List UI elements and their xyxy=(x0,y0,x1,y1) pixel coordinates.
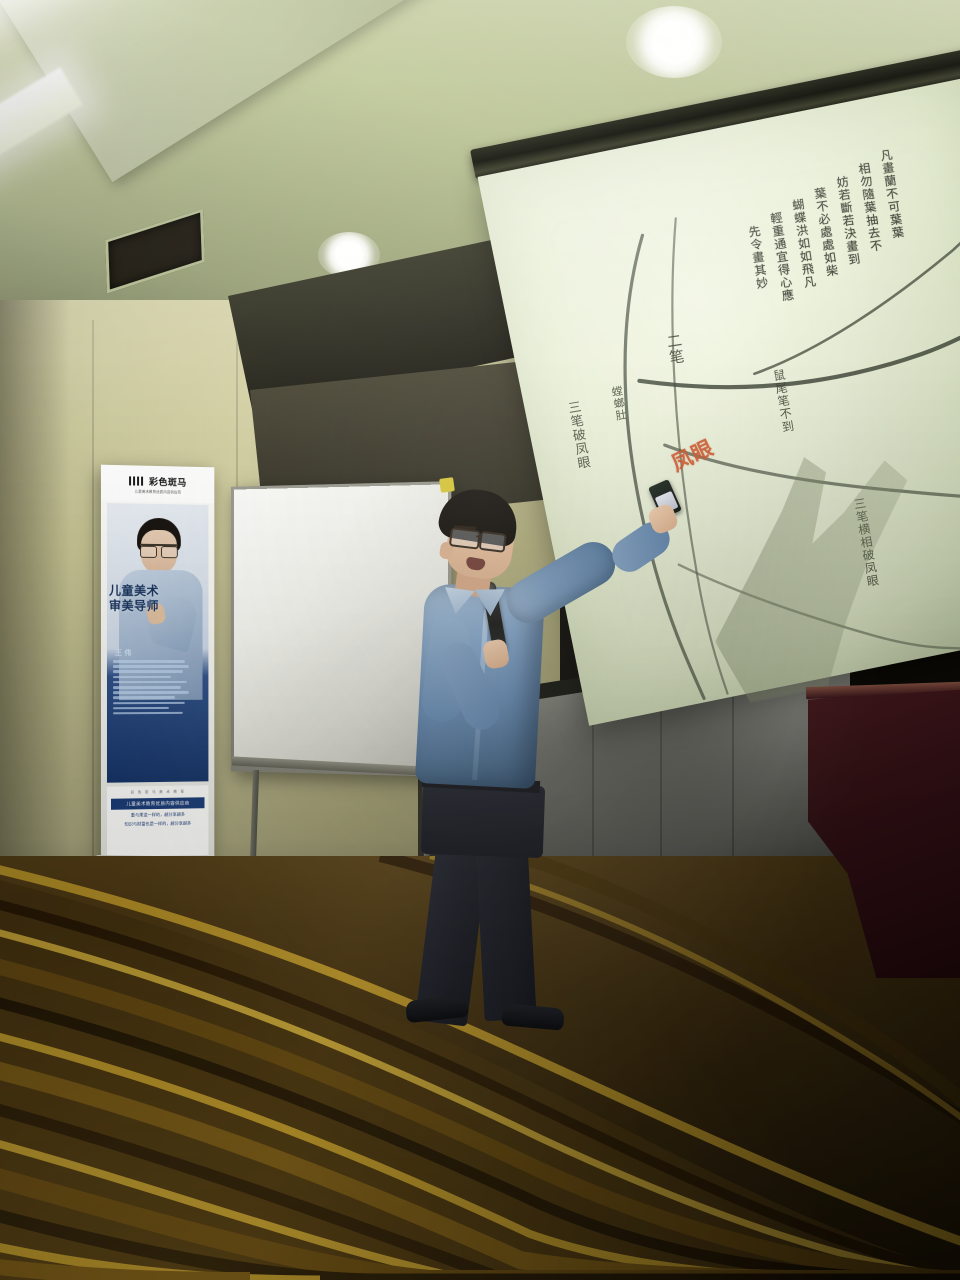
slide-label-top-center: 二笔 xyxy=(664,332,686,366)
banner-footer-tiny: 彩 色 斑 马 美 术 教 育 xyxy=(131,790,185,796)
banner-header: 彩色斑马 儿童美术教育优质内容供应商 xyxy=(101,465,214,503)
bio-line xyxy=(113,696,175,699)
banner-footer: 彩 色 斑 马 美 术 教 育 儿童美术教育优质内容供应商 重与果造一样的，越分… xyxy=(107,785,208,857)
presenter-arm-raised xyxy=(499,534,623,631)
poem-column-6: 輕重通宜得心應 xyxy=(767,211,795,303)
presenter xyxy=(392,490,652,1035)
presenter-hips xyxy=(421,782,545,858)
portrait-glasses-icon xyxy=(140,544,178,556)
bio-line xyxy=(113,665,189,668)
bio-line xyxy=(113,686,181,689)
banner-brand: 彩色斑马 xyxy=(149,474,187,488)
presenter-leg-right xyxy=(475,839,536,1021)
bio-line xyxy=(113,712,183,715)
calligraphy-poem: 凡畫蘭不可葉葉 相勿隨葉抽去不 妨若斷若決畫到 葉不必處處如柴 蝴蝶洪如如飛凡 … xyxy=(737,148,912,307)
downlight-1 xyxy=(626,6,722,78)
bio-line xyxy=(113,676,171,679)
roll-up-banner[interactable]: 彩色斑马 儿童美术教育优质内容供应商 儿童美术 审美导师 王 伟 xyxy=(101,465,214,860)
banner-footer-bar: 儿童美术教育优质内容供应商 xyxy=(111,797,204,810)
bio-line xyxy=(113,660,185,663)
banner-footer-line2: 知识与财富也是一样的，越分享越多 xyxy=(125,821,192,829)
banner-headline: 儿童美术 审美导师 xyxy=(109,584,159,614)
wall-left-shadow xyxy=(0,300,70,940)
bio-line xyxy=(113,701,185,704)
banner-portrait-photo xyxy=(107,503,208,783)
glasses-lens-right xyxy=(479,531,507,553)
bio-line xyxy=(113,691,189,694)
bio-line xyxy=(113,707,169,710)
banner-presenter-name: 王 伟 xyxy=(115,648,131,658)
photo-scene: 凡畫蘭不可葉葉 相勿隨葉抽去不 妨若斷若決畫到 葉不必處處如柴 蝴蝶洪如如飛凡 … xyxy=(0,0,960,1280)
presenter-shoe-right xyxy=(501,1003,565,1030)
banner-headline-line2: 审美导师 xyxy=(109,599,159,614)
banner-footer-line1: 重与果造一样的，越分享越多 xyxy=(131,812,185,819)
glasses-lens-left xyxy=(449,527,481,550)
banner-brand-sub: 儿童美术教育优质内容供应商 xyxy=(135,488,181,494)
bio-line xyxy=(113,681,187,684)
bio-line xyxy=(113,670,183,673)
banner-headline-line1: 儿童美术 xyxy=(109,584,159,599)
banner-bio-block xyxy=(113,660,189,715)
zebra-logo-icon xyxy=(129,476,145,485)
